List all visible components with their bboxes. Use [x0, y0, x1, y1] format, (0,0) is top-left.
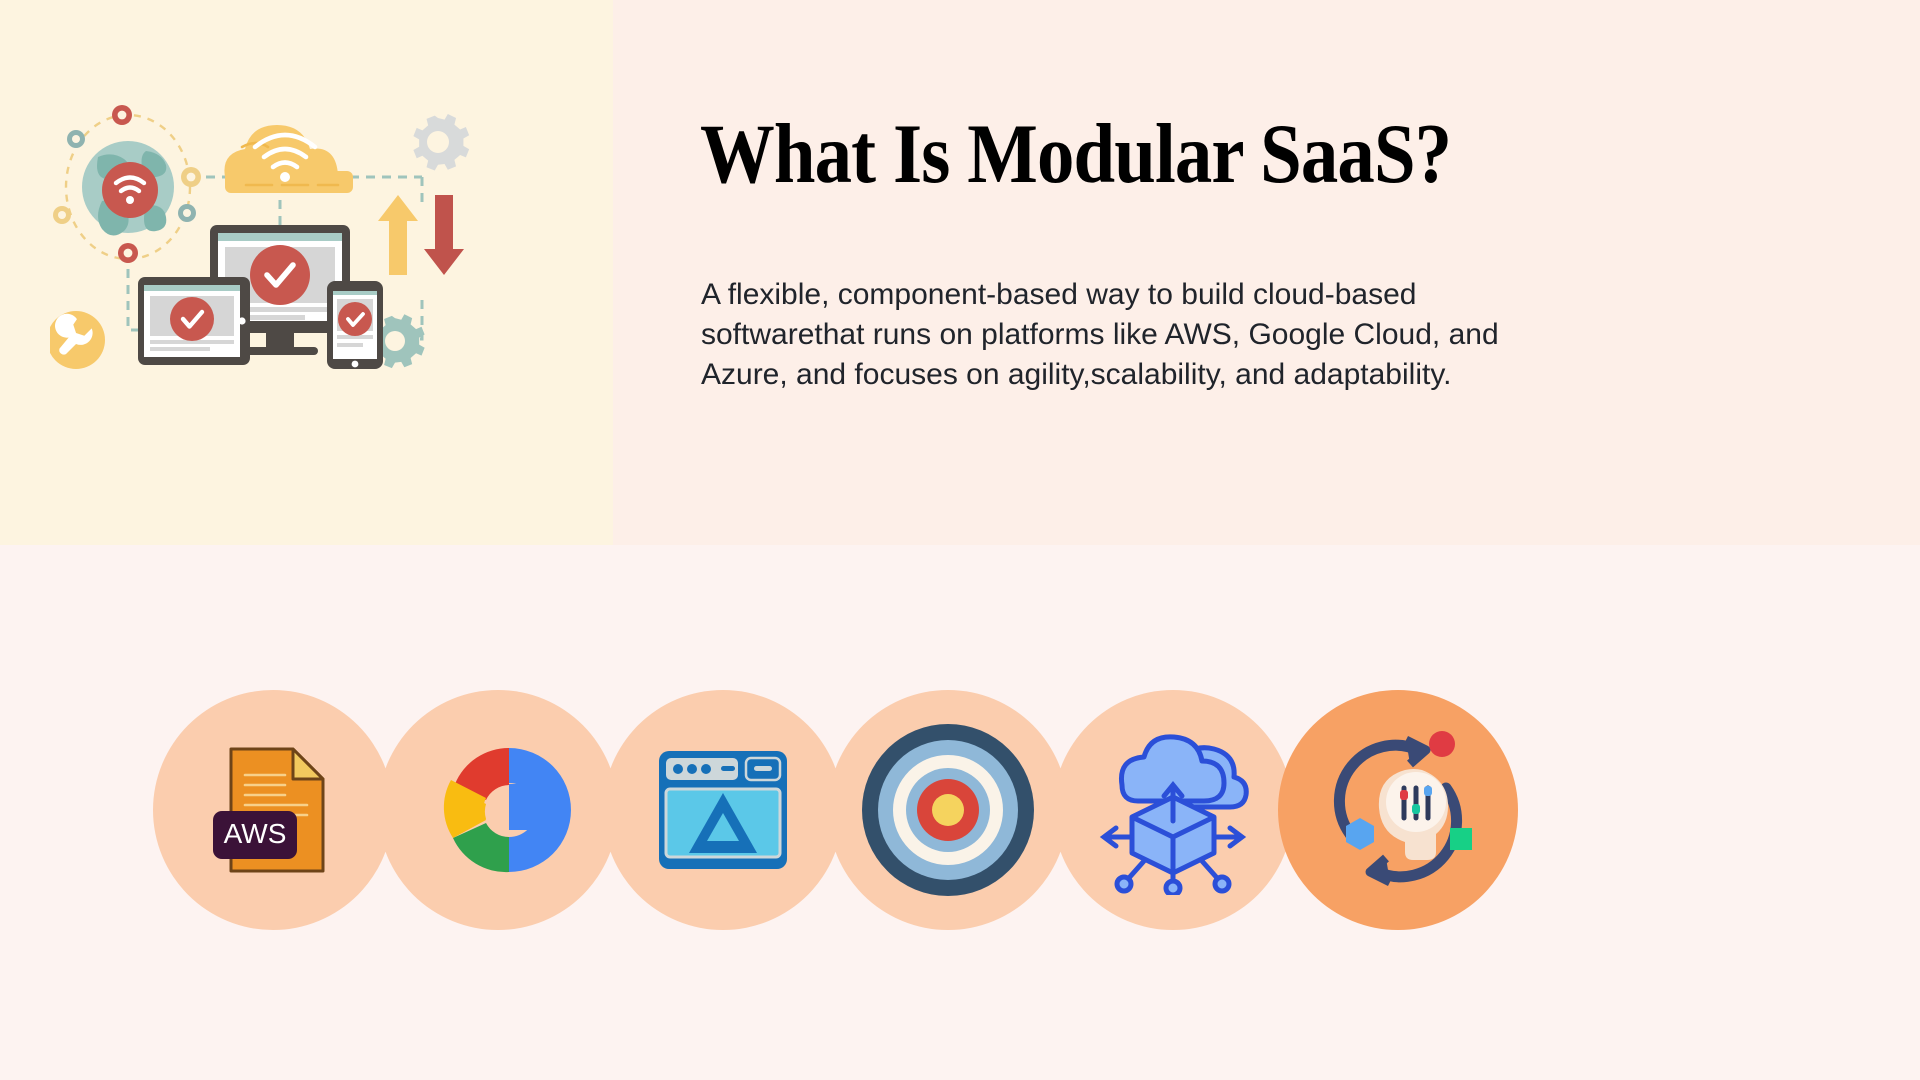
subtitle-line-2: softwarethat runs on platforms like AWS,… — [701, 315, 1731, 355]
icon-disc-azure — [603, 690, 843, 930]
ai-adaptability-head-icon — [1310, 722, 1486, 898]
hero-panel — [0, 0, 613, 545]
icon-cell-azure[interactable] — [603, 690, 843, 930]
icon-cell-aws[interactable]: AWS — [153, 690, 393, 930]
icon-disc-target — [828, 690, 1068, 930]
top-band: What Is Modular SaaS? A flexible, compon… — [0, 0, 1920, 545]
icon-disc-aws: AWS — [153, 690, 393, 930]
phone-icon — [327, 281, 383, 369]
down-arrow-icon — [424, 195, 464, 275]
icon-disc-google-cloud — [378, 690, 618, 930]
platform-icon-row: AWS — [0, 545, 1920, 1080]
red-dot-accent — [1429, 731, 1455, 757]
icon-disc-ai-head — [1278, 690, 1518, 930]
icon-cell-ai-head[interactable] — [1278, 690, 1518, 930]
gear-icon-gray — [413, 114, 469, 171]
subtitle-line-3: Azure, and focuses on agility,scalabilit… — [701, 355, 1731, 395]
wrench-icon — [50, 311, 105, 369]
aws-icon: AWS — [203, 735, 343, 885]
subtitle-paragraph: A flexible, component-based way to build… — [701, 275, 1731, 395]
icon-cell-cloud-cube[interactable] — [1053, 690, 1293, 930]
cloud-devices-connectivity-illustration — [50, 95, 520, 395]
globe-wifi-icon — [82, 141, 174, 236]
text-panel: What Is Modular SaaS? A flexible, compon… — [613, 0, 1920, 545]
slide-root: What Is Modular SaaS? A flexible, compon… — [0, 0, 1920, 1080]
page-title: What Is Modular SaaS? — [700, 112, 1668, 197]
icon-cell-target[interactable] — [828, 690, 1068, 930]
google-cloud-icon — [423, 740, 573, 880]
azure-browser-icon — [653, 745, 793, 875]
hexagon-accent — [1346, 818, 1374, 850]
icon-cell-google-cloud[interactable] — [378, 690, 618, 930]
icon-disc-cloud-cube — [1053, 690, 1293, 930]
target-bullseye-icon — [860, 722, 1036, 898]
aws-badge-label: AWS — [224, 818, 287, 849]
subtitle-line-1: A flexible, component-based way to build… — [701, 275, 1731, 315]
cloud-modular-cube-icon — [1088, 725, 1258, 895]
up-arrow-icon — [378, 195, 418, 275]
tablet-icon — [138, 277, 250, 365]
cloud-wifi-icon — [224, 125, 353, 193]
green-square-accent — [1450, 828, 1472, 850]
